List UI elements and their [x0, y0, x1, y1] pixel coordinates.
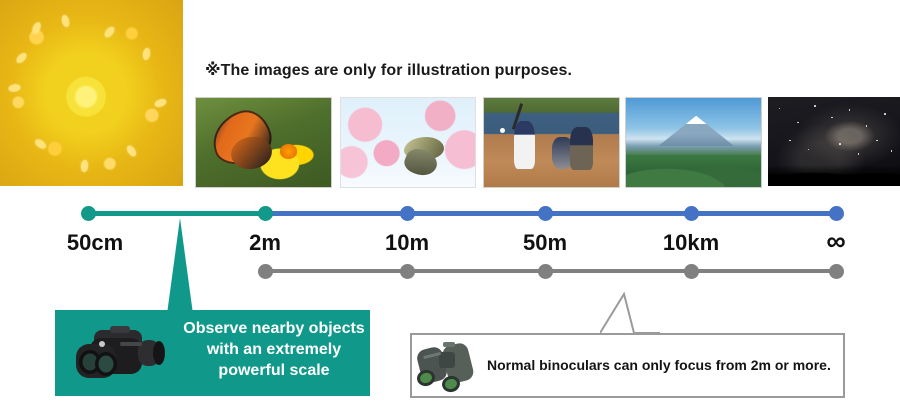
- gray-dot-2m: [258, 264, 273, 279]
- mount-fuji-photo: [625, 97, 762, 188]
- macro-flower-photo: [0, 0, 183, 186]
- scale-teal-track: [88, 211, 265, 216]
- baseball-umpire: [570, 127, 593, 170]
- scale-dot-2m: [258, 206, 273, 221]
- macro-flower-photo-inner: [0, 0, 183, 186]
- scale-label-50cm: 50cm: [67, 230, 123, 256]
- gray-dot-10km: [684, 264, 699, 279]
- gray-dot-50m: [538, 264, 553, 279]
- white-callout-text: Normal binoculars can only focus from 2m…: [487, 357, 831, 373]
- teal-callout-text: Observe nearby objects with an extremely…: [180, 318, 368, 381]
- baseball-photo-inner: [484, 98, 619, 187]
- scale-dot-10m: [400, 206, 415, 221]
- scale-label-infinity: ∞: [826, 226, 845, 257]
- infographic-canvas: ※The images are only for illustration pu…: [0, 0, 900, 404]
- star: [839, 143, 841, 145]
- scale-dot-50cm: [81, 206, 96, 221]
- illustration-disclaimer-text: ※The images are only for illustration pu…: [205, 60, 572, 80]
- night-sky-photo: [768, 97, 900, 186]
- star: [849, 109, 851, 111]
- treeline-silhouette: [768, 165, 900, 186]
- scale-dot-50m: [538, 206, 553, 221]
- teal-callout-pointer: [163, 218, 197, 314]
- star: [789, 140, 791, 142]
- scale-label-50m: 50m: [523, 230, 567, 256]
- cherry-blossom-bird-photo: [340, 97, 476, 188]
- mount-fuji-foreground-hills: [626, 155, 761, 187]
- scale-dot-infinity: [829, 206, 844, 221]
- star: [876, 140, 878, 142]
- baseball-photo: [483, 97, 620, 188]
- gray-dot-infinity: [829, 264, 844, 279]
- flower-center: [280, 144, 298, 158]
- standard-binoculars-icon: [413, 338, 483, 394]
- gray-dot-10m: [400, 264, 415, 279]
- baseball-batter: [514, 121, 536, 169]
- star: [884, 113, 886, 115]
- scale-label-10km: 10km: [663, 230, 719, 256]
- scale-dot-10km: [684, 206, 699, 221]
- butterfly-photo: [195, 97, 332, 188]
- compact-binoculars-icon: [64, 322, 174, 388]
- star: [831, 117, 833, 119]
- scale-label-2m: 2m: [249, 230, 281, 256]
- scale-label-10m: 10m: [385, 230, 429, 256]
- star: [866, 125, 868, 127]
- star: [814, 105, 816, 107]
- white-callout-pointer: [600, 292, 660, 334]
